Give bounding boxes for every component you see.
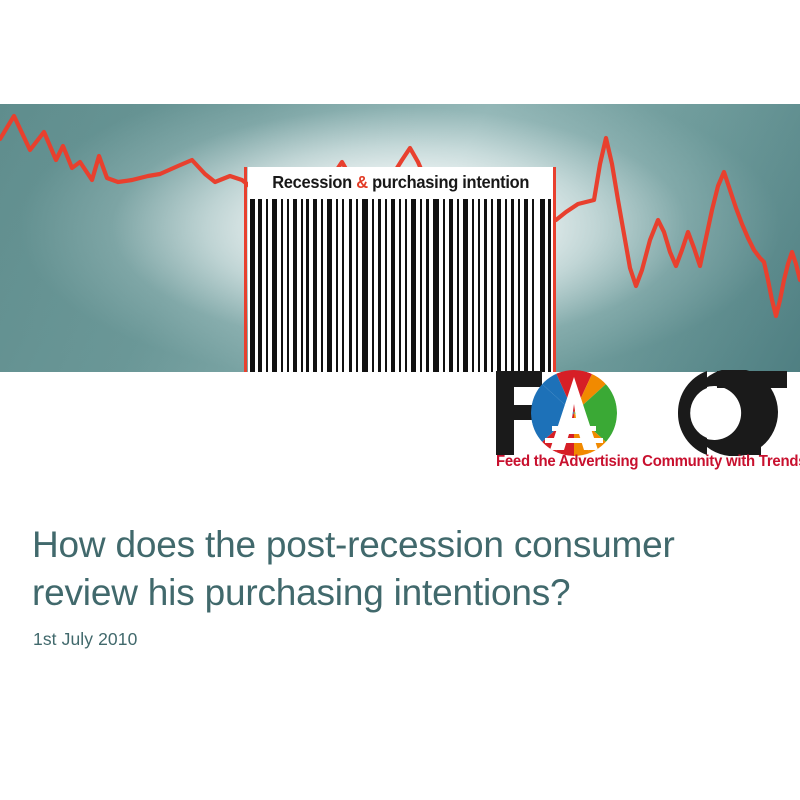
barcode-graphic: Recession & purchasing intention [244, 167, 556, 372]
page-title-line-1: How does the post-recession consumer [32, 524, 675, 565]
page-title-line-2: review his purchasing intentions? [32, 569, 772, 617]
barcode-caption-pre: Recession [272, 172, 356, 192]
barcode-right-red-rail [553, 167, 556, 372]
fact-wordmark [494, 370, 790, 456]
hero-banner-image: Recession & purchasing intention [0, 104, 800, 372]
fact-logo: Feed the Advertising Community with Tren… [494, 370, 790, 482]
barcode-caption-post: purchasing intention [368, 172, 529, 192]
barcode-caption-ampersand: & [356, 172, 368, 192]
fact-logo-tagline: Feed the Advertising Community with Tren… [496, 454, 783, 469]
barcode-caption: Recession & purchasing intention [248, 167, 553, 199]
barcode-left-red-rail [244, 167, 247, 372]
logo-letter-a-circle [531, 370, 617, 456]
presentation-date: 1st July 2010 [33, 629, 137, 650]
page-title: How does the post-recession consumer rev… [32, 521, 772, 617]
